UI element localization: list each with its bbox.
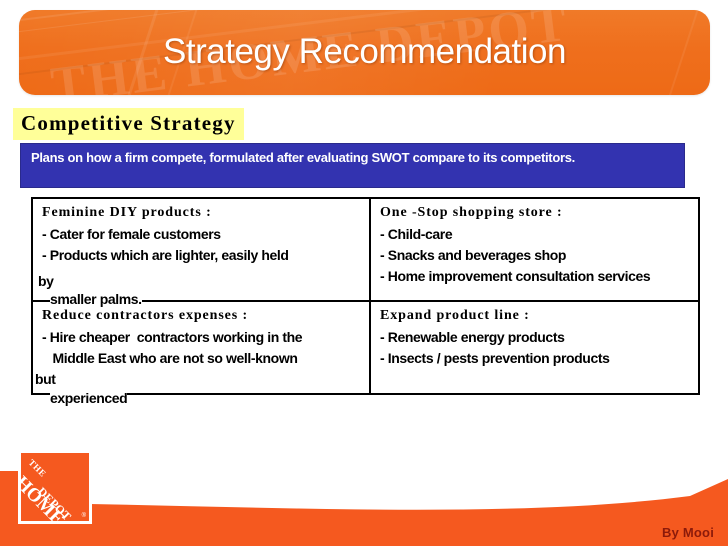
cell-title: One -Stop shopping store :	[380, 205, 692, 221]
table-cell-feminine-diy-products: Feminine DIY products : - Cater for fema…	[33, 199, 369, 266]
cell-item: - Products which are lighter, easily hel…	[42, 245, 361, 266]
page-title: Strategy Recommendation	[19, 32, 710, 72]
cell-item: - Insects / pests prevention products	[380, 348, 692, 369]
overflow-text-smaller-palms: smaller palms.	[50, 291, 142, 307]
registered-trademark-icon: ®	[82, 513, 86, 519]
cell-item: - Cater for female customers	[42, 224, 361, 245]
definition-banner: Plans on how a firm compete, formulated …	[20, 143, 685, 188]
cell-title: Expand product line :	[380, 308, 692, 324]
table-cell-reduce-contractors-expenses: Reduce contractors expenses : - Hire che…	[33, 302, 369, 369]
overflow-text-by: by	[38, 273, 54, 289]
cell-item: - Snacks and beverages shop	[380, 245, 692, 266]
cell-item: - Child-care	[380, 224, 692, 245]
overflow-text-experienced: experienced	[50, 390, 127, 406]
cell-title: Feminine DIY products :	[42, 205, 361, 221]
home-depot-logo: THE HOME DEPOT ®	[18, 450, 92, 524]
cell-item: - Home improvement consultation services	[380, 266, 692, 287]
section-heading: Competitive Strategy	[13, 108, 244, 140]
cell-item: Middle East who are not so well-known	[42, 348, 361, 369]
overflow-text-but: but	[35, 371, 56, 387]
table-cell-one-stop-shopping-store: One -Stop shopping store : - Child-care …	[371, 199, 700, 287]
cell-item: - Renewable energy products	[380, 327, 692, 348]
cell-item: - Hire cheaper contractors working in th…	[42, 327, 361, 348]
slide-header-banner: THE HOME DEPOT Strategy Recommendation	[19, 10, 710, 95]
cell-title: Reduce contractors expenses :	[42, 308, 361, 324]
bottom-swoosh-decoration	[0, 446, 728, 546]
definition-text: Plans on how a firm compete, formulated …	[31, 149, 676, 166]
footer-credit: By Mooi	[662, 525, 714, 540]
table-cell-expand-product-line: Expand product line : - Renewable energy…	[371, 302, 700, 369]
